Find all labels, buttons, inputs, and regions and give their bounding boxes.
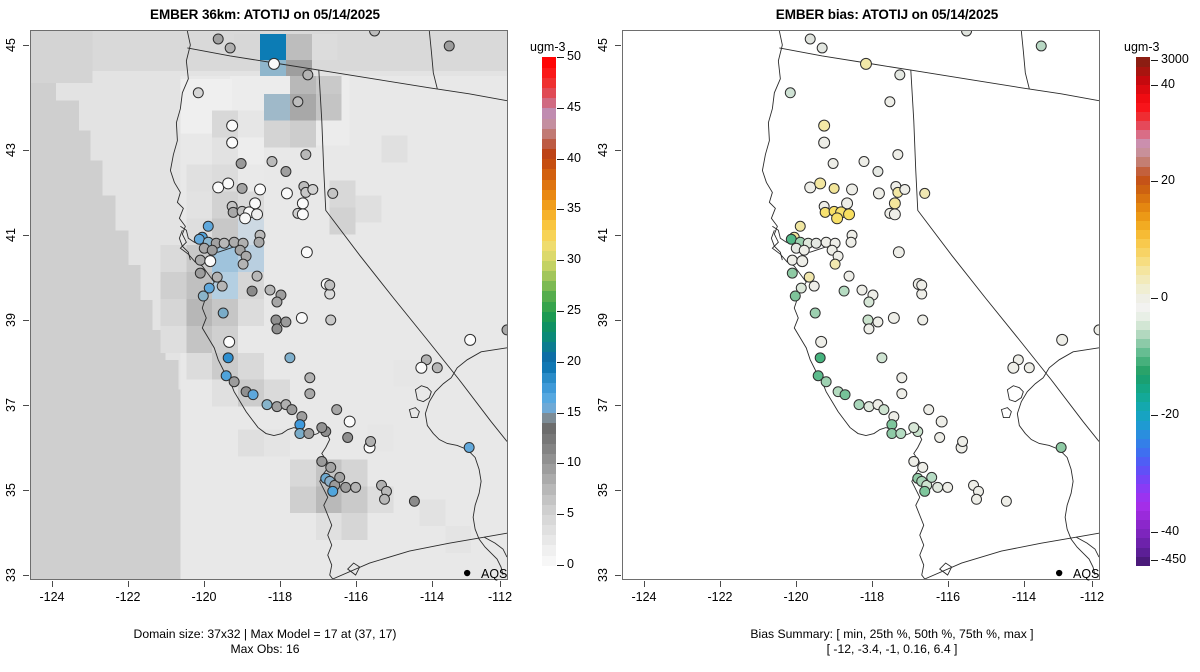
colorbar-segment	[1136, 229, 1150, 239]
colorbar-segment	[1136, 356, 1150, 366]
colorbar-tick	[1151, 181, 1158, 182]
y-tick-label: 39	[596, 303, 610, 337]
colorbar-tick	[557, 565, 564, 566]
colorbar-segment	[1136, 266, 1150, 276]
colorbar-segment	[542, 474, 556, 485]
panel-title-model: EMBER 36km: ATOTIJ on 05/14/2025	[0, 7, 530, 22]
caption-line-2: Max Obs: 16	[0, 642, 530, 657]
colorbar-tick	[557, 260, 564, 261]
caption-line-1: Bias Summary: [ min, 25th %, 50th %, 75t…	[622, 627, 1162, 642]
colorbar-segment	[1136, 202, 1150, 212]
y-tick-label: 35	[596, 473, 610, 507]
x-tick-label: -116	[924, 590, 972, 604]
colorbar-segment	[1136, 384, 1150, 394]
colorbar-segment	[1136, 420, 1150, 430]
colorbar-tick	[1151, 532, 1158, 533]
y-tick-label: 45	[596, 28, 610, 62]
colorbar-segment	[542, 199, 556, 210]
colorbar-tick	[557, 108, 564, 109]
colorbar-segment	[1136, 257, 1150, 267]
colorbar-segment	[1136, 529, 1150, 539]
colorbar-segment	[542, 138, 556, 149]
colorbar-title-model: ugm-3	[530, 40, 565, 54]
colorbar-tick-label: 20	[1161, 173, 1175, 187]
colorbar-segment	[1136, 66, 1150, 76]
map-plot-bias	[622, 30, 1100, 580]
y-tick-label: 43	[4, 133, 18, 167]
x-tick-label: -118	[848, 590, 896, 604]
y-tick-label: 41	[4, 218, 18, 252]
colorbar-segment	[542, 423, 556, 434]
colorbar-segment	[1136, 429, 1150, 439]
colorbar-segment	[542, 189, 556, 200]
map-canvas-bias	[623, 31, 1099, 579]
y-tick-label: 41	[596, 218, 610, 252]
colorbar-segment	[542, 372, 556, 383]
colorbar-segment	[1136, 438, 1150, 448]
colorbar-segment	[542, 453, 556, 464]
colorbar-segment	[542, 433, 556, 444]
colorbar-segment	[1136, 375, 1150, 385]
panel-title-bias: EMBER bias: ATOTIJ on 05/14/2025	[622, 7, 1152, 22]
colorbar-segment	[542, 463, 556, 474]
colorbar-segment	[1136, 166, 1150, 176]
colorbar-segment	[542, 159, 556, 170]
colorbar-tick-label: 15	[567, 405, 581, 419]
colorbar-segment	[542, 341, 556, 352]
y-tick-label: 35	[4, 473, 18, 507]
colorbar-segment	[1136, 275, 1150, 285]
colorbar-segment	[1136, 338, 1150, 348]
panel-bias: EMBER bias: ATOTIJ on 05/14/2025	[600, 0, 1200, 672]
colorbar-segment	[1136, 511, 1150, 521]
colorbar-segment	[542, 57, 556, 68]
colorbar-tick	[557, 311, 564, 312]
colorbar-tick-label: 30	[567, 252, 581, 266]
caption-line-2: [ -12, -3.4, -1, 0.16, 6.4 ]	[622, 642, 1162, 657]
colorbar-segment	[542, 118, 556, 129]
colorbar-tick	[1151, 298, 1158, 299]
colorbar-segment	[1136, 465, 1150, 475]
colorbar-segment	[542, 250, 556, 261]
colorbar-tick-label: 0	[567, 557, 574, 571]
colorbar-tick	[557, 413, 564, 414]
colorbar-segment	[542, 382, 556, 393]
colorbar-segment	[542, 230, 556, 241]
colorbar-segment	[1136, 184, 1150, 194]
colorbar-segment	[542, 331, 556, 342]
colorbar-tick	[1151, 560, 1158, 561]
colorbar-segment	[1136, 130, 1150, 140]
x-tick-label: -116	[332, 590, 380, 604]
colorbar-segment	[1136, 520, 1150, 530]
colorbar-tick	[1151, 60, 1158, 61]
colorbar-segment	[1136, 248, 1150, 258]
aqs-legend-model: AQS	[481, 567, 507, 581]
colorbar-tick-label: -20	[1161, 407, 1179, 421]
x-tick-label: -118	[256, 590, 304, 604]
colorbar-segment	[1136, 556, 1150, 566]
colorbar-segment	[1136, 75, 1150, 85]
colorbar-tick	[1151, 85, 1158, 86]
colorbar-segment	[542, 524, 556, 535]
colorbar-segment	[1136, 121, 1150, 131]
colorbar-segment	[1136, 402, 1150, 412]
aqs-legend-label: AQS	[481, 567, 507, 581]
colorbar-tick-label: 40	[567, 151, 581, 165]
colorbar-tick-label: 5	[567, 506, 574, 520]
x-tick-label: -122	[104, 590, 152, 604]
colorbar-tick-label: 45	[567, 100, 581, 114]
colorbar-segment	[1136, 238, 1150, 248]
colorbar-segment	[542, 240, 556, 251]
colorbar-segment	[1136, 474, 1150, 484]
x-tick-label: -114	[408, 590, 456, 604]
colorbar-segment	[542, 494, 556, 505]
colorbar-segment	[1136, 111, 1150, 121]
colorbar-tick-label: 35	[567, 201, 581, 215]
colorbar-segment	[542, 535, 556, 546]
colorbar-segment	[1136, 148, 1150, 158]
colorbar-tick-label: -450	[1161, 552, 1186, 566]
colorbar-segment	[1136, 84, 1150, 94]
colorbar-segment	[1136, 57, 1150, 67]
colorbar-gradient-model	[542, 57, 556, 565]
colorbar-segment	[542, 169, 556, 180]
colorbar-segment	[1136, 193, 1150, 203]
panel-model: EMBER 36km: ATOTIJ on 05/14/2025	[0, 0, 600, 672]
colorbar-tick-label: 10	[567, 455, 581, 469]
colorbar-tick	[557, 159, 564, 160]
aqs-legend-dot-model	[464, 570, 470, 576]
map-canvas-model	[31, 31, 507, 579]
colorbar-segment	[542, 270, 556, 281]
colorbar-segment	[542, 209, 556, 220]
colorbar-segment	[542, 108, 556, 119]
y-tick-label: 33	[4, 558, 18, 592]
colorbar-segment	[1136, 347, 1150, 357]
colorbar-segment	[1136, 139, 1150, 149]
colorbar-segment	[1136, 483, 1150, 493]
caption-line-1: Domain size: 37x32 | Max Model = 17 at (…	[0, 627, 530, 642]
colorbar-tick-label: 25	[567, 303, 581, 317]
y-tick-label: 33	[596, 558, 610, 592]
colorbar-segment	[1136, 211, 1150, 221]
colorbar-segment	[542, 514, 556, 525]
colorbar-tick	[557, 362, 564, 363]
colorbar-segment	[1136, 447, 1150, 457]
colorbar-tick	[557, 514, 564, 515]
colorbar-tick	[557, 463, 564, 464]
colorbar-segment	[542, 362, 556, 373]
colorbar-segment	[542, 311, 556, 322]
colorbar-segment	[542, 179, 556, 190]
x-tick-label: -114	[1000, 590, 1048, 604]
colorbar-segment	[542, 87, 556, 98]
colorbar-tick-label: 3000	[1161, 52, 1189, 66]
x-tick-label: -120	[772, 590, 820, 604]
colorbar-segment	[542, 402, 556, 413]
colorbar-segment	[1136, 175, 1150, 185]
colorbar-segment	[1136, 93, 1150, 103]
x-tick-label: -124	[28, 590, 76, 604]
colorbar-segment	[1136, 157, 1150, 167]
colorbar-segment	[1136, 311, 1150, 321]
colorbar-gradient-bias	[1136, 57, 1150, 565]
colorbar-segment	[542, 128, 556, 139]
aqs-legend-bias: AQS	[1073, 567, 1099, 581]
colorbar-segment	[1136, 365, 1150, 375]
y-tick-label: 37	[4, 388, 18, 422]
y-tick-label: 45	[4, 28, 18, 62]
colorbar-segment	[1136, 547, 1150, 557]
colorbar-segment	[1136, 456, 1150, 466]
colorbar-segment	[542, 443, 556, 454]
colorbar-tick-label: 0	[1161, 290, 1168, 304]
colorbar-segment	[1136, 102, 1150, 112]
colorbar-segment	[542, 352, 556, 363]
colorbar-segment	[542, 484, 556, 495]
model-grid-raster	[31, 31, 507, 579]
colorbar-segment	[542, 67, 556, 78]
colorbar-tick-label: 40	[1161, 77, 1175, 91]
colorbar-segment	[542, 392, 556, 403]
colorbar-segment	[1136, 293, 1150, 303]
caption-model: Domain size: 37x32 | Max Model = 17 at (…	[0, 627, 530, 657]
colorbar-segment	[1136, 329, 1150, 339]
colorbar-segment	[1136, 538, 1150, 548]
aqs-legend-dot-bias	[1056, 570, 1062, 576]
colorbar-tick-label: 50	[567, 49, 581, 63]
colorbar-segment	[542, 220, 556, 231]
map-plot-model	[30, 30, 508, 580]
y-tick-label: 39	[4, 303, 18, 337]
caption-bias: Bias Summary: [ min, 25th %, 50th %, 75t…	[622, 627, 1162, 657]
colorbar-segment	[542, 555, 556, 566]
figure-canvas: EMBER 36km: ATOTIJ on 05/14/2025	[0, 0, 1200, 672]
x-tick-label: -120	[180, 590, 228, 604]
colorbar-segment	[1136, 393, 1150, 403]
colorbar-segment	[1136, 220, 1150, 230]
colorbar-segment	[1136, 492, 1150, 502]
colorbar-tick	[557, 57, 564, 58]
x-tick-label: -124	[620, 590, 668, 604]
aqs-legend-label: AQS	[1073, 567, 1099, 581]
colorbar-segment	[542, 321, 556, 332]
colorbar-segment	[1136, 284, 1150, 294]
colorbar-title-bias: ugm-3	[1124, 40, 1159, 54]
colorbar-segment	[1136, 411, 1150, 421]
colorbar-segment	[542, 148, 556, 159]
y-tick-label: 43	[596, 133, 610, 167]
x-tick-label: -112	[1068, 590, 1116, 604]
max-model-cell	[260, 34, 286, 60]
colorbar-segment	[542, 504, 556, 515]
colorbar-segment	[542, 291, 556, 302]
colorbar-segment	[542, 77, 556, 88]
colorbar-segment	[542, 260, 556, 271]
colorbar-segment	[542, 545, 556, 556]
colorbar-tick-label: 20	[567, 354, 581, 368]
colorbar-segment	[542, 413, 556, 424]
colorbar-tick	[557, 209, 564, 210]
y-tick-label: 37	[596, 388, 610, 422]
colorbar-tick	[1151, 415, 1158, 416]
bias-background	[623, 31, 1099, 579]
colorbar-segment	[1136, 320, 1150, 330]
colorbar-segment	[1136, 302, 1150, 312]
x-tick-label: -112	[476, 590, 524, 604]
x-tick-label: -122	[696, 590, 744, 604]
colorbar-segment	[542, 281, 556, 292]
colorbar-tick-label: -40	[1161, 524, 1179, 538]
colorbar-segment	[542, 301, 556, 312]
colorbar-segment	[1136, 502, 1150, 512]
colorbar-segment	[542, 98, 556, 109]
